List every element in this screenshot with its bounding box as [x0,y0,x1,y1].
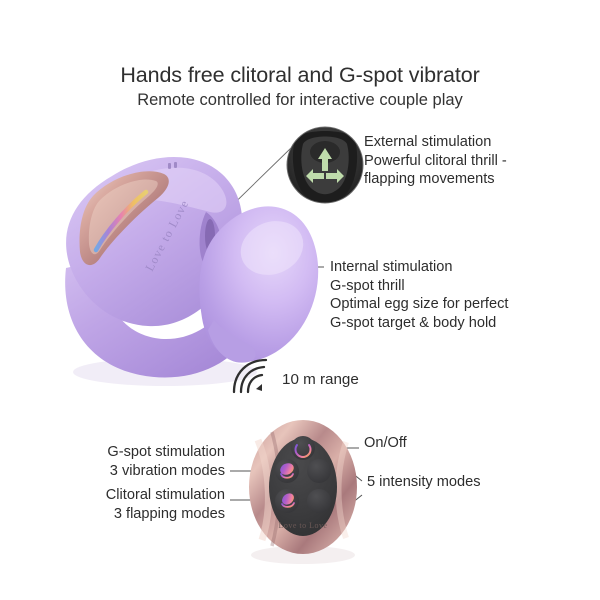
external-detail-inset [287,127,363,204]
callout-range-label: 10 m range [282,371,359,390]
remote-control: Love to Love [249,420,357,564]
callout-line: G-spot target & body hold [330,314,508,333]
callout-external-stimulation: External stimulation Powerful clitoral t… [364,133,507,189]
callout-line: 3 flapping modes [50,505,225,524]
plus-button[interactable] [307,459,331,483]
page-subtitle: Remote controlled for interactive couple… [0,91,600,110]
callout-on-off: On/Off [364,434,407,453]
power-button[interactable] [291,436,315,460]
infographic-canvas: Love to Love [0,0,600,600]
callout-internal-stimulation: Internal stimulation G-spot thrill Optim… [330,258,508,332]
callout-line: G-spot stimulation [50,443,225,462]
callout-line: Internal stimulation [330,258,508,277]
minus-button[interactable] [307,489,331,513]
callout-gspot-modes: G-spot stimulation 3 vibration modes [50,443,225,480]
vibration-mode-button[interactable] [275,459,299,483]
callout-clitoral-modes: Clitoral stimulation 3 flapping modes [50,486,225,523]
flapping-mode-button[interactable] [275,489,299,513]
remote-brand-text: Love to Love [278,521,327,530]
callout-line: External stimulation [364,133,507,152]
callout-intensity-modes: 5 intensity modes [367,473,481,492]
page-title: Hands free clitoral and G-spot vibrator [0,63,600,88]
callout-line: 3 vibration modes [50,462,225,481]
callout-line: G-spot thrill [330,277,508,296]
callout-line: flapping movements [364,170,507,189]
product-main-body: Love to Love [65,157,318,386]
callout-line: Clitoral stimulation [50,486,225,505]
callout-line: Optimal egg size for perfect [330,295,508,314]
callout-line: Powerful clitoral thrill - [364,152,507,171]
